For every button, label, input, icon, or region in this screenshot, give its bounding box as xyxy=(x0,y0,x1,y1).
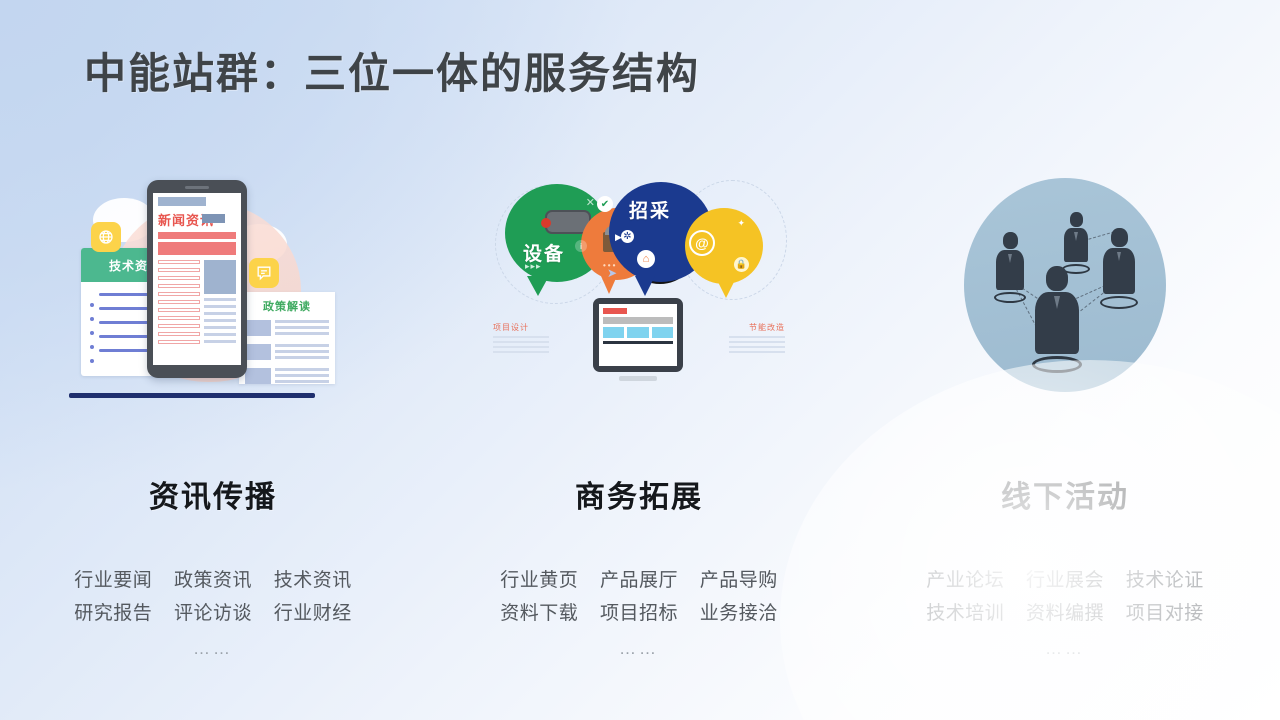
service-row: 行业要闻 政策资讯 技术资讯 xyxy=(66,564,360,597)
illustration-speech-bubbles: 设备 ✕ ▸▸▸ ✚ ••• xyxy=(426,160,852,410)
side-label-right: 节能改造 xyxy=(749,322,785,333)
person-figure xyxy=(1062,212,1090,274)
service-row: 技术培训 资料编撰 项目对接 xyxy=(918,597,1212,630)
at-icon: @ xyxy=(689,230,715,256)
service-item: 政策资讯 xyxy=(166,564,260,597)
three-column-layout: 技术资讯 政策解读 xyxy=(0,160,1280,665)
lock-icon: 🔒 xyxy=(734,257,749,272)
service-row: 产业论坛 行业展会 技术论证 xyxy=(918,564,1212,597)
service-item: 产品展厅 xyxy=(592,564,686,597)
service-item: 技术培训 xyxy=(918,597,1012,630)
policy-card-label: 政策解读 xyxy=(245,298,329,314)
illustration-people-network xyxy=(852,160,1278,410)
person-figure xyxy=(1100,228,1138,309)
home-icon: ⌂ xyxy=(637,250,655,268)
service-item: 资料编撰 xyxy=(1018,597,1112,630)
service-item: 产品导购 xyxy=(692,564,786,597)
service-item: 业务接洽 xyxy=(692,597,786,630)
service-row: 资料下载 项目招标 业务接洽 xyxy=(492,597,786,630)
globe-icon xyxy=(91,222,121,252)
service-item: 资料下载 xyxy=(492,597,586,630)
ellipsis: …… xyxy=(492,632,786,665)
column-heading-offline: 线下活动 xyxy=(1001,472,1129,516)
person-figure-center xyxy=(1032,266,1082,373)
service-item: 评论访谈 xyxy=(166,597,260,630)
phone-mockup: 新闻资讯 xyxy=(147,180,247,378)
policy-card: 政策解读 xyxy=(239,292,335,384)
service-item: 项目对接 xyxy=(1118,597,1212,630)
column-offline-events: 线下活动 产业论坛 行业展会 技术论证 技术培训 资料编撰 项目对接 …… xyxy=(852,160,1278,665)
service-row: 研究报告 评论访谈 行业财经 xyxy=(66,597,360,630)
column-information-dissemination: 技术资讯 政策解读 xyxy=(0,160,426,665)
service-item: 技术论证 xyxy=(1118,564,1212,597)
service-item: 行业要闻 xyxy=(66,564,160,597)
service-item: 项目招标 xyxy=(592,597,686,630)
service-item: 研究报告 xyxy=(66,597,160,630)
side-label-left: 项目设计 xyxy=(493,322,529,333)
person-figure xyxy=(994,232,1026,303)
service-item: 技术资讯 xyxy=(266,564,360,597)
illustration-news-phone: 技术资讯 政策解读 xyxy=(0,160,426,410)
ellipsis: …… xyxy=(66,632,360,665)
page-title: 中能站群：三位一体的服务结构 xyxy=(84,40,700,101)
cursor-icon: ➤ xyxy=(607,266,617,280)
info-icon: i xyxy=(575,240,587,252)
service-row: 行业黄页 产品展厅 产品导购 xyxy=(492,564,786,597)
bubble-yellow: @ 🔒 ✦ xyxy=(685,208,763,284)
bubble-procurement-label: 招采 xyxy=(629,196,671,223)
monitor-mockup xyxy=(593,298,683,372)
column-heading-business: 商务拓展 xyxy=(575,472,703,516)
service-item: 行业展会 xyxy=(1018,564,1112,597)
play-icon: ▶ xyxy=(615,232,622,243)
column-heading-information: 资讯传播 xyxy=(149,472,277,516)
chat-icon xyxy=(249,258,279,288)
column-body-offline: 产业论坛 行业展会 技术论证 技术培训 资料编撰 项目对接 …… xyxy=(918,564,1212,665)
service-item: 产业论坛 xyxy=(918,564,1012,597)
gear-icon: ✲ xyxy=(621,230,634,243)
service-item: 行业财经 xyxy=(266,597,360,630)
column-body-information: 行业要闻 政策资讯 技术资讯 研究报告 评论访谈 行业财经 …… xyxy=(66,564,360,665)
base-bar xyxy=(69,393,315,398)
service-item: 行业黄页 xyxy=(492,564,586,597)
slide-canvas: 中能站群：三位一体的服务结构 技术资讯 xyxy=(0,0,1280,720)
ellipsis: …… xyxy=(918,632,1212,665)
column-business-development: 设备 ✕ ▸▸▸ ✚ ••• xyxy=(426,160,852,665)
column-body-business: 行业黄页 产品展厅 产品导购 资料下载 项目招标 业务接洽 …… xyxy=(492,564,786,665)
check-icon: ✔ xyxy=(597,196,613,212)
